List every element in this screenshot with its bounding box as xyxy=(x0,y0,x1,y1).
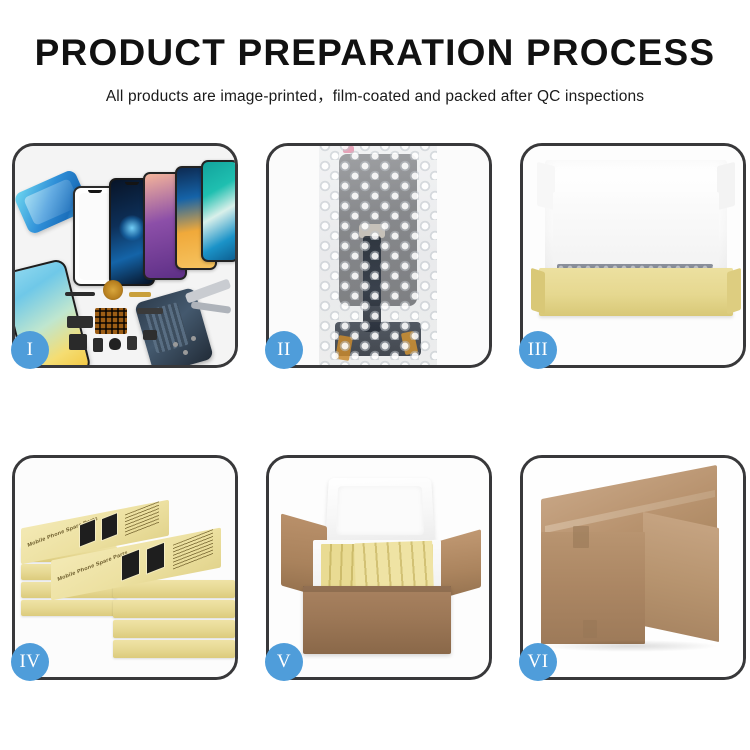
strip-part-icon xyxy=(137,308,163,314)
flex-cable-part-icon xyxy=(69,334,87,350)
process-step-4: Mobile Phone Spare Parts Mobile Phone Sp… xyxy=(12,455,238,680)
step-4-image: Mobile Phone Spare Parts Mobile Phone Sp… xyxy=(15,458,235,677)
stacked-box-edge xyxy=(113,620,235,638)
step-badge-3: III xyxy=(519,331,557,369)
chip-grid-part-icon xyxy=(95,308,127,334)
step-badge-6: VI xyxy=(519,643,557,681)
coil-part-icon xyxy=(103,280,123,300)
bubble-texture-overlay xyxy=(319,146,437,365)
product-preparation-infographic: PRODUCT PREPARATION PROCESS All products… xyxy=(0,0,750,750)
step-3-image xyxy=(523,146,743,365)
process-step-grid: I II xyxy=(12,143,738,680)
page-title: PRODUCT PREPARATION PROCESS xyxy=(0,34,750,73)
stacked-box-edge xyxy=(21,600,117,616)
stacked-box-edge xyxy=(113,600,235,618)
flex-cable-part-icon xyxy=(67,316,93,328)
screen-thumbnail-icon xyxy=(101,512,118,542)
screw-icon xyxy=(183,350,188,355)
header: PRODUCT PREPARATION PROCESS All products… xyxy=(0,0,750,106)
box-spec-lines xyxy=(173,529,213,570)
screw-icon xyxy=(173,342,178,347)
process-step-1: I xyxy=(12,143,238,368)
step-6-image xyxy=(523,458,743,677)
strip-part-icon xyxy=(65,292,95,296)
foam-lid-graphic xyxy=(325,478,435,545)
phone-fan-graphic xyxy=(73,164,233,282)
step-5-image xyxy=(269,458,489,677)
small-part-icon xyxy=(127,336,137,350)
foam-liner-graphic xyxy=(553,192,719,266)
notch-icon xyxy=(125,182,139,185)
step-badge-5: V xyxy=(265,643,303,681)
packed-yellow-boxes-graphic xyxy=(354,541,434,592)
carton-tape-patch xyxy=(573,526,589,548)
step-2-image xyxy=(269,146,489,365)
carton-shadow xyxy=(543,640,719,652)
bubble-wrap-bag-graphic xyxy=(319,146,437,365)
screen-thumbnail-icon xyxy=(146,542,165,575)
box-stack-graphic: Mobile Phone Spare Parts Mobile Phone Sp… xyxy=(21,482,235,664)
step-badge-1: I xyxy=(11,331,49,369)
spare-parts-cluster xyxy=(73,286,203,365)
screen-thumbnail-icon xyxy=(79,518,96,548)
carton-side-face xyxy=(643,512,719,642)
process-step-3: III xyxy=(520,143,746,368)
process-step-2: II xyxy=(266,143,492,368)
small-part-icon xyxy=(143,330,157,340)
phone-teal-graphic xyxy=(201,160,235,262)
carton-body-graphic xyxy=(303,586,451,654)
small-part-icon xyxy=(109,338,121,350)
small-part-icon xyxy=(93,338,103,352)
notch-icon xyxy=(88,190,102,193)
carton-tape-patch xyxy=(583,620,597,638)
stacked-box-edge xyxy=(113,640,235,658)
kraft-box-tray-graphic xyxy=(539,268,733,316)
step-badge-2: II xyxy=(265,331,303,369)
screw-icon xyxy=(191,336,196,341)
screen-thumbnail-icon xyxy=(121,548,140,581)
strip-part-icon xyxy=(129,292,151,297)
page-subtitle: All products are image-printed，film-coat… xyxy=(0,84,750,106)
process-step-5: V xyxy=(266,455,492,680)
step-badge-4: IV xyxy=(11,643,49,681)
process-step-6: VI xyxy=(520,455,746,680)
step-1-image xyxy=(15,146,235,365)
box-spec-lines xyxy=(125,501,159,536)
